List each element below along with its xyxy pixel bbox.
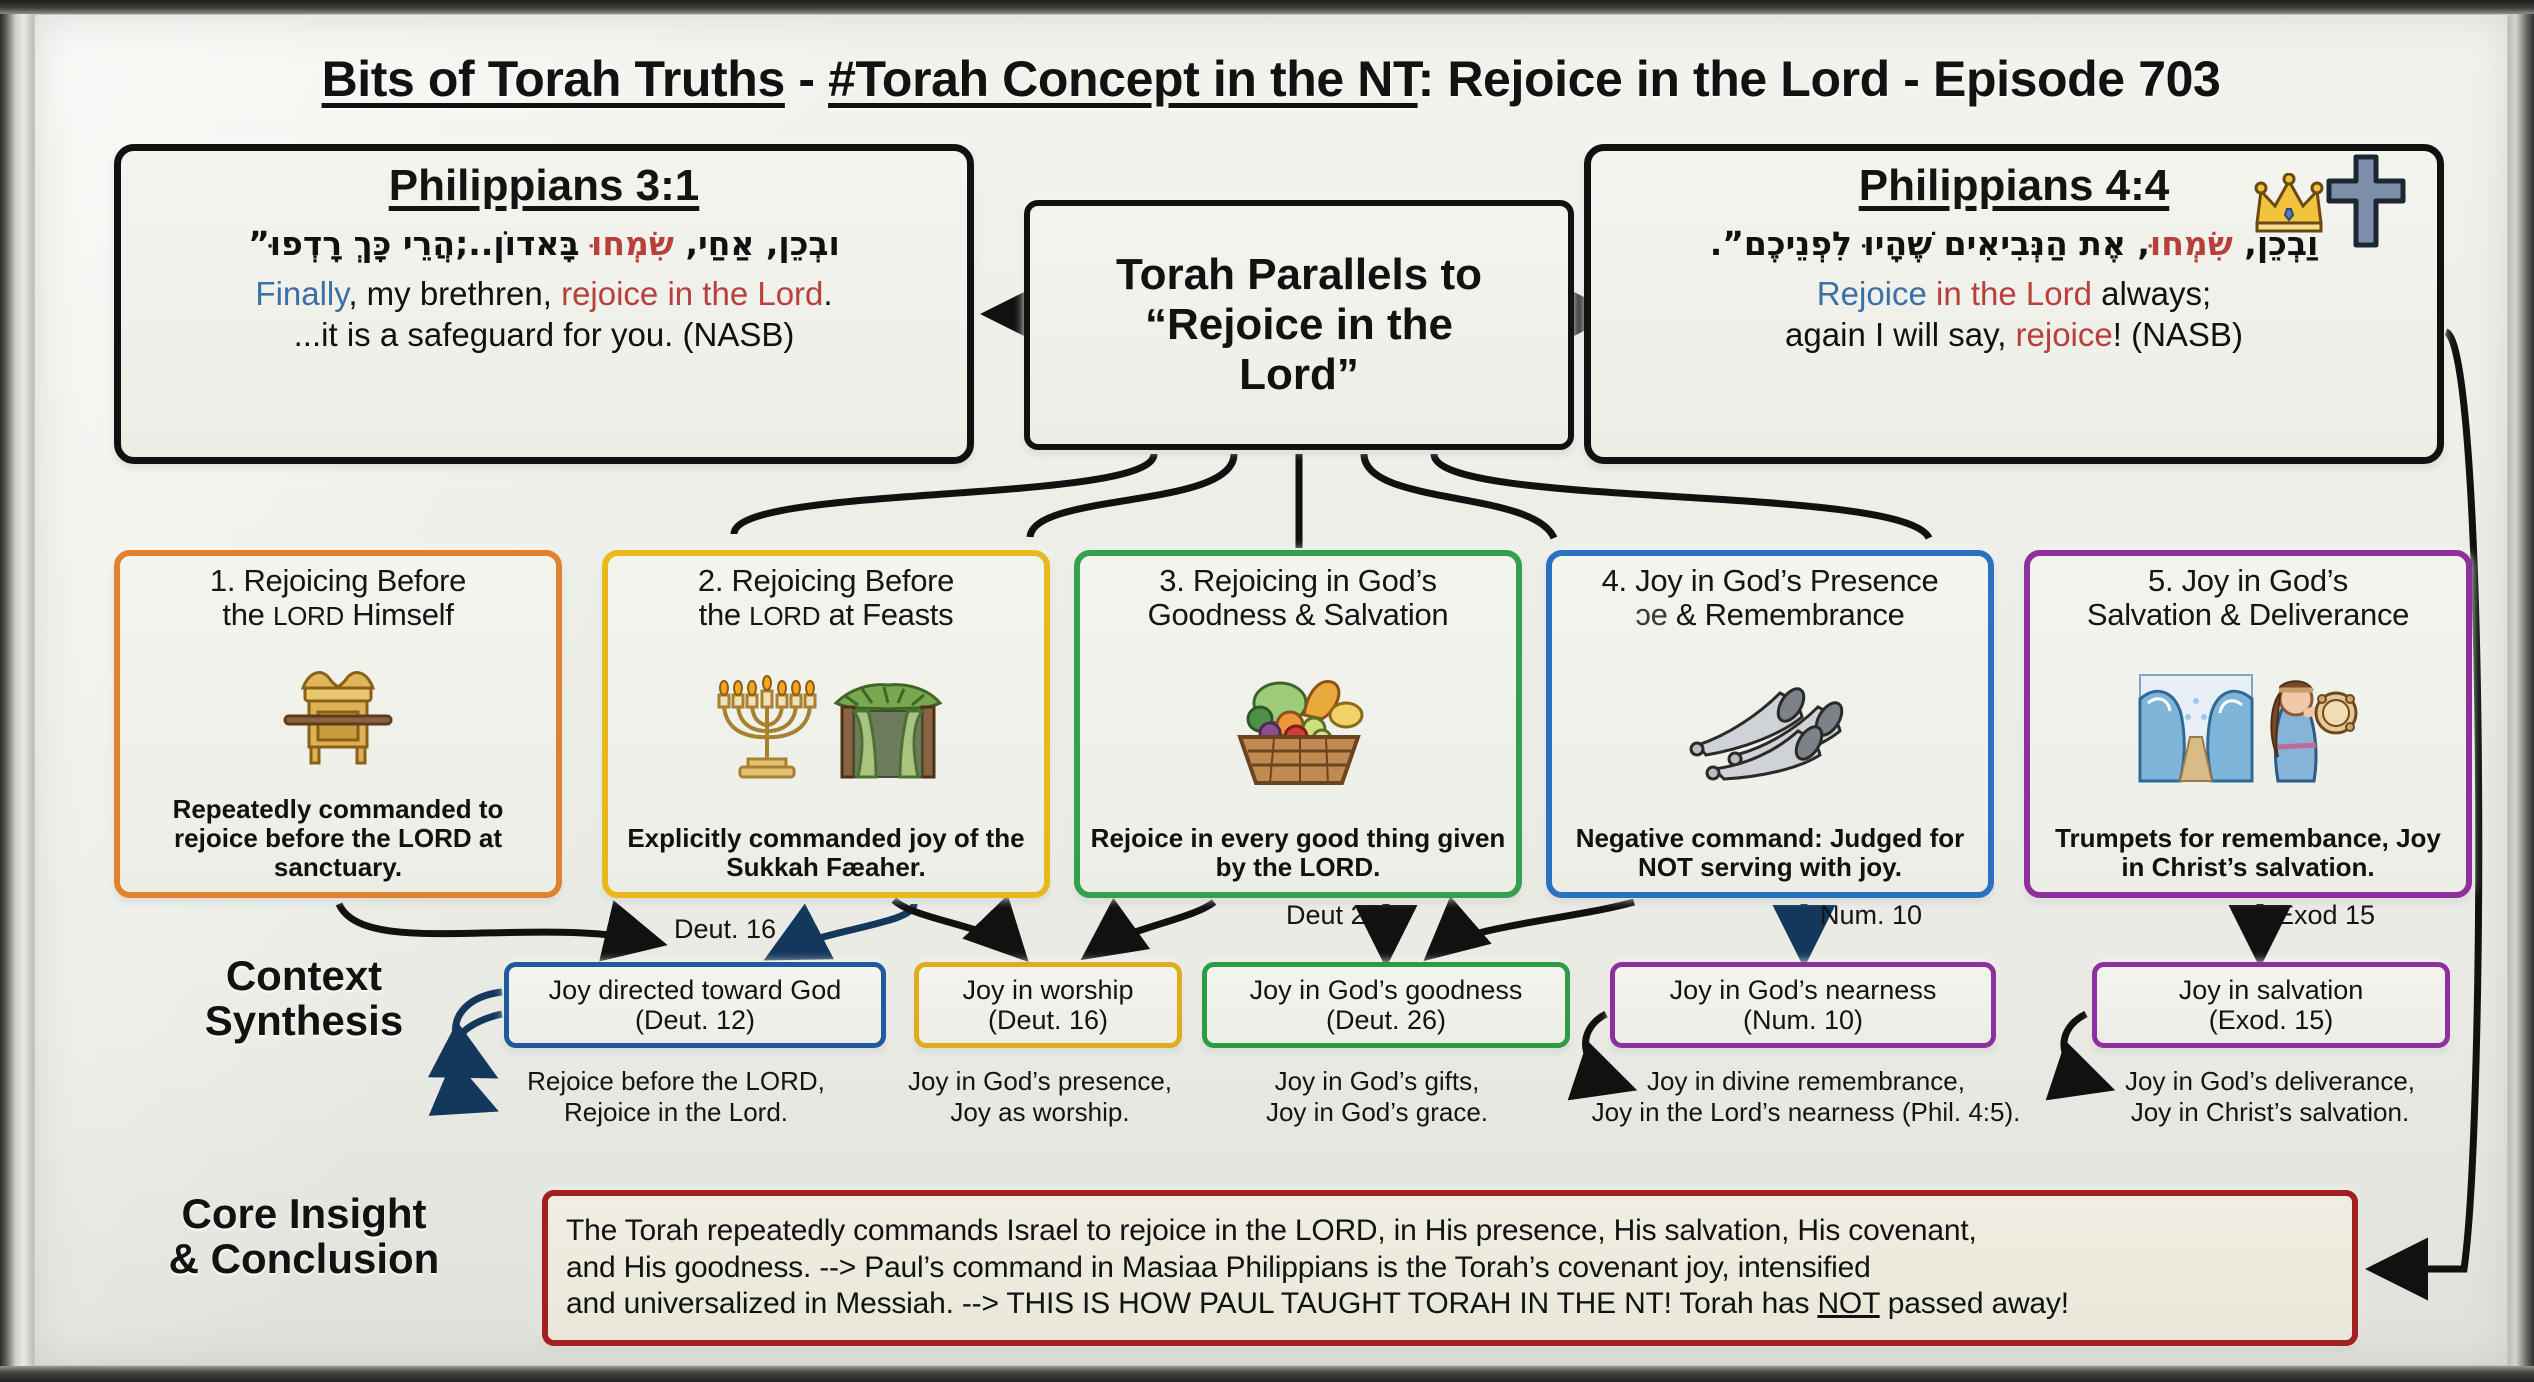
core-label-line1: Core Insight (181, 1190, 426, 1237)
crown-icon (2253, 173, 2325, 233)
english-rejoice-blue: Rejoice (1817, 275, 1927, 312)
synthesis-box-3: Joy in God’s goodness (Deut. 26) (1202, 962, 1570, 1048)
synthesis-5-line1: Joy in salvation (2179, 975, 2364, 1005)
synthesis-3-line2: (Deut. 26) (1326, 1005, 1446, 1035)
english-inthelord-red: in the Lord (1927, 275, 2092, 312)
synthesis-box-5: Joy in salvation (Exod. 15) (2092, 962, 2450, 1048)
title-part-hashtag: #Torah Concept in the NT (828, 51, 1418, 107)
verse-left-hebrew: ובְכֵן, אַחַי, שִׂמְחוּ בָּאדוֹן..;הֲרֵי… (137, 223, 951, 264)
core-insight-not: NOT (1817, 1287, 1879, 1320)
caption-4-line2: Joy in the Lord’s nearness (Phil. 4:5). (1592, 1097, 2021, 1127)
caption-5-line1: Joy in God’s deliverance, (2125, 1066, 2415, 1096)
core-label-line2: & Conclusion (169, 1235, 440, 1282)
concept-1-head-smallcaps: LORD (273, 601, 344, 631)
synthesis-3-text: Joy in God’s goodness (Deut. 26) (1250, 975, 1523, 1035)
synthesis-4-text: Joy in God’s nearness (Num. 10) (1670, 975, 1937, 1035)
synthesis-box-2: Joy in worship (Deut. 16) (914, 962, 1182, 1048)
board-left-rail (0, 0, 34, 1382)
ref-label-deut26: Deut 26 (1286, 900, 1381, 931)
concept-5-head-post: Salvation & Deliverance (2087, 597, 2409, 632)
concept-2-head-smallcaps: LORD (749, 601, 820, 631)
concept-2-head-post: at Feasts (820, 597, 953, 632)
hebrew-pre: ובְכֵן, אַחַי, (674, 224, 840, 263)
context-label-line2: Synthesis (205, 997, 403, 1044)
concept-5-head-line1: 5. Joy in God’s (2148, 563, 2348, 598)
synthesis-1-line2: (Deut. 12) (635, 1005, 755, 1035)
caption-3-line2: Joy in God’s grace. (1266, 1097, 1488, 1127)
concept-1-heading: 1. Rejoicing Before the LORD Himself (210, 564, 466, 632)
title-separator: - (785, 51, 828, 107)
verse-right-english-line2: again I will say, rejoice! (NASB) (1607, 315, 2421, 355)
ref-label-exod15: Exod 15 (2276, 900, 2375, 931)
concept-5-icons (2138, 632, 2358, 824)
sukkah-icon (832, 673, 944, 783)
synthesis-5-line2: (Exod. 15) (2209, 1005, 2334, 1035)
english-nasb: ! (NASB) (2113, 316, 2243, 353)
cross-icon (2323, 153, 2409, 249)
concept-1-head-post: Himself (344, 597, 454, 632)
hub-line-3: Lord” (1239, 350, 1359, 399)
synthesis-caption-4: Joy in divine remembrance, Joy in the Lo… (1546, 1066, 2066, 1128)
synthesis-4-line1: Joy in God’s nearness (1670, 975, 1937, 1005)
concept-4-head-post: & Remembrance (1676, 597, 1905, 632)
center-hub-card: Torah Parallels to “Rejoice in the Lord” (1024, 200, 1574, 450)
fruit-basket-icon (1218, 667, 1378, 789)
concept-2-head-line1: 2. Rejoicing Before (698, 563, 954, 598)
concept-3-heading: 3. Rejoicing in God’s Goodness & Salvati… (1148, 564, 1449, 632)
section-label-context-synthesis: Context Synthesis (134, 954, 474, 1043)
concept-2-icons (708, 632, 944, 824)
board-right-rail (2508, 0, 2534, 1382)
core-insight-line-3: and universalized in Messiah. --> THIS I… (566, 1286, 2334, 1323)
verse-right-english-line1: Rejoice in the Lord always; (1607, 274, 2421, 314)
synthesis-caption-3: Joy in God’s gifts, Joy in God’s grace. (1212, 1066, 1542, 1128)
concept-card-4: 4. Joy in God’s Presence ɔe & Remembranc… (1546, 550, 1994, 898)
verse-card-philippians-4-4: Philippians 4:4 וַבְכֵן, שִׂמְחוּ, אֶת ה… (1584, 144, 2444, 464)
concept-card-5: 5. Joy in God’s Salvation & Deliverance (2024, 550, 2472, 898)
english-period: . (823, 275, 832, 312)
synthesis-caption-2: Joy in God’s presence, Joy as worship. (872, 1066, 1208, 1128)
synthesis-4-line2: (Num. 10) (1743, 1005, 1863, 1035)
parting-sea-icon (2138, 673, 2254, 783)
concept-4-head-line1: 4. Joy in God’s Presence (1602, 563, 1939, 598)
concept-3-head-post: Goodness & Salvation (1148, 597, 1449, 632)
trumpets-icon (1680, 673, 1860, 783)
concept-2-body: Explicitly commanded joy of the Sukkah F… (618, 824, 1034, 882)
board-bottom-rail (0, 1366, 2534, 1382)
english-finally: Finally (255, 275, 348, 312)
english-always: always; (2092, 275, 2211, 312)
synthesis-box-1: Joy directed toward God (Deut. 12) (504, 962, 886, 1048)
synthesis-box-4: Joy in God’s nearness (Num. 10) (1610, 962, 1996, 1048)
hub-line-1: Torah Parallels to (1116, 250, 1482, 299)
synthesis-caption-1: Rejoice before the LORD, Rejoice in the … (486, 1066, 866, 1128)
core-insight-line-2: and His goodness. --> Paul’s command in … (566, 1250, 2334, 1287)
verse-left-title: Philippians 3:1 (137, 161, 951, 211)
concept-4-body: Negative command: Judged for NOT serving… (1562, 824, 1978, 882)
synthesis-caption-5: Joy in God’s deliverance, Joy in Christ’… (2060, 1066, 2480, 1128)
title-part-episode: : Rejoice in the Lord - Episode 703 (1418, 51, 2221, 107)
ref-label-num10: Num. 10 (1820, 900, 1922, 931)
diagram-canvas: Bits of Torah Truths - #Torah Concept in… (34, 14, 2508, 1366)
concept-4-head-artifact: ɔe (1635, 597, 1675, 632)
synthesis-2-line1: Joy in worship (962, 975, 1133, 1005)
concept-card-2: 2. Rejoicing Before the LORD at Feasts (602, 550, 1050, 898)
concept-3-head-line1: 3. Rejoicing in God’s (1159, 563, 1436, 598)
ref-label-deut16: Deut. 16 (674, 914, 776, 945)
synthesis-1-text: Joy directed toward God (Deut. 12) (549, 975, 842, 1035)
english-rejoice2: rejoice (2016, 316, 2113, 353)
concept-2-heading: 2. Rejoicing Before the LORD at Feasts (698, 564, 954, 632)
verse-left-english-line2: ...it is a safeguard for you. (NASB) (137, 315, 951, 355)
hebrew-post: בָּאדוֹן..;הֲרֵי כָּךְ רָדְפוּ” (248, 224, 591, 263)
hub-text: Torah Parallels to “Rejoice in the Lord” (1116, 250, 1482, 400)
concept-1-icons (263, 632, 413, 794)
concept-3-icons (1218, 632, 1378, 824)
core-insight-line3-b: passed away! (1880, 1287, 2069, 1320)
board-top-rail (0, 0, 2534, 14)
page-title: Bits of Torah Truths - #Torah Concept in… (34, 50, 2508, 108)
core-insight-box: The Torah repeatedly commands Israel to … (542, 1190, 2358, 1346)
synthesis-2-line2: (Deut. 16) (988, 1005, 1108, 1035)
core-insight-line3-a: and universalized in Messiah. --> THIS I… (566, 1287, 1817, 1320)
caption-2-line2: Joy as worship. (950, 1097, 1129, 1127)
caption-5-line2: Joy in Christ’s salvation. (2131, 1097, 2409, 1127)
menorah-icon (708, 673, 826, 783)
caption-1-line2: Rejoice in the Lord. (564, 1097, 788, 1127)
concept-5-body: Trumpets for remembance, Joy in Christ’s… (2040, 824, 2456, 882)
concept-card-1: 1. Rejoicing Before the LORD Himself Rep… (114, 550, 562, 898)
hub-line-2: “Rejoice in the (1145, 300, 1453, 349)
concept-1-head-pre: the (222, 597, 273, 632)
verse-left-english-line1: Finally, my brethren, rejoice in the Lor… (137, 274, 951, 314)
concept-card-3: 3. Rejoicing in God’s Goodness & Salvati… (1074, 550, 1522, 898)
context-label-line1: Context (226, 952, 382, 999)
synthesis-2-text: Joy in worship (Deut. 16) (962, 975, 1133, 1035)
verse-card-philippians-3-1: Philippians 3:1 ובְכֵן, אַחַי, שִׂמְחוּ … (114, 144, 974, 464)
caption-4-line1: Joy in divine remembrance, (1647, 1066, 1965, 1096)
english-again: again I will say, (1785, 316, 2015, 353)
tambourine-woman-icon (2260, 673, 2358, 783)
concept-1-head-line1: 1. Rejoicing Before (210, 563, 466, 598)
caption-2-line1: Joy in God’s presence, (908, 1066, 1172, 1096)
hebrew-highlight: שִׂמְחוּ (2150, 224, 2233, 263)
ark-of-covenant-icon (263, 654, 413, 772)
caption-1-line1: Rejoice before the LORD, (527, 1066, 825, 1096)
core-insight-line-1: The Torah repeatedly commands Israel to … (566, 1213, 2334, 1250)
english-rejoice: rejoice in the Lord (561, 275, 823, 312)
concept-3-body: Rejoice in every good thing given by the… (1090, 824, 1506, 882)
concept-4-heading: 4. Joy in God’s Presence ɔe & Remembranc… (1602, 564, 1939, 632)
concept-4-icons (1680, 632, 1860, 824)
synthesis-5-text: Joy in salvation (Exod. 15) (2179, 975, 2364, 1035)
hebrew-highlight: שִׂמְחוּ (591, 224, 674, 263)
concept-2-head-pre: the (699, 597, 750, 632)
concept-1-body: Repeatedly commanded to rejoice before t… (130, 795, 546, 882)
hebrew-post: , אֶת הַנְּבִיאִים שֶׁהָיוּ לִפְנֵיכֶם”. (1710, 224, 2150, 263)
title-part-brand: Bits of Torah Truths (322, 51, 785, 107)
synthesis-1-line1: Joy directed toward God (549, 975, 842, 1005)
synthesis-3-line1: Joy in God’s goodness (1250, 975, 1523, 1005)
caption-3-line1: Joy in God’s gifts, (1275, 1066, 1480, 1096)
concept-5-heading: 5. Joy in God’s Salvation & Deliverance (2087, 564, 2409, 632)
english-mid: , my brethren, (348, 275, 561, 312)
section-label-core-insight: Core Insight & Conclusion (114, 1192, 494, 1281)
